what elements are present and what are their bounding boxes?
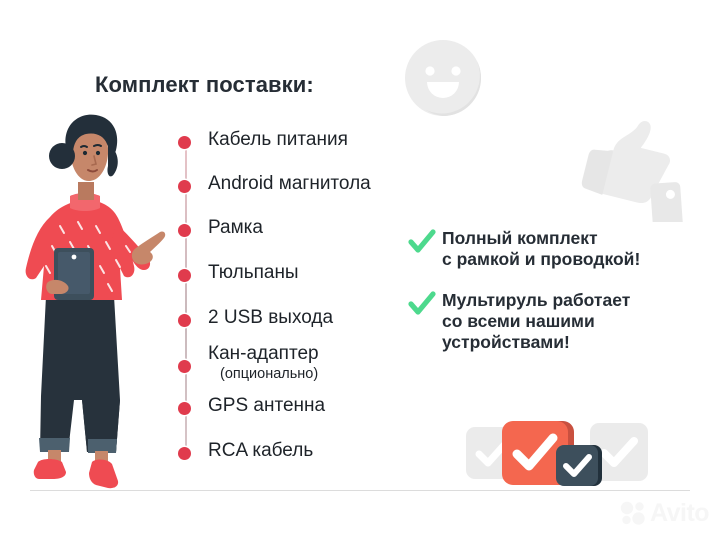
check-icon <box>408 291 436 317</box>
avito-watermark: Avito <box>620 500 709 526</box>
bullet-dot-icon <box>178 180 191 193</box>
list-item-label: Тюльпаны <box>208 262 299 283</box>
ground-line <box>30 490 690 491</box>
list-item-label: Android магнитола <box>208 173 371 194</box>
thumbs-up-icon <box>580 112 690 222</box>
check-icon <box>408 229 436 255</box>
promo-card: Комплект поставки: Кабель питания Androi… <box>0 0 720 540</box>
bullet-dot-icon <box>178 360 191 373</box>
benefit-text: Мультируль работает со всеми нашими устр… <box>442 290 630 354</box>
checkbox-card-dark <box>556 445 598 486</box>
list-item-label: 2 USB выхода <box>208 307 333 328</box>
page-title: Комплект поставки: <box>95 72 314 98</box>
list-item-label: Кабель питания <box>208 129 348 150</box>
list-item-label: Рамка <box>208 217 263 238</box>
list-item: Android магнитола <box>178 174 478 194</box>
list-item-label: Кан-адаптер <box>208 343 319 364</box>
list-item: GPS антенна <box>178 396 478 416</box>
bullet-dot-icon <box>178 224 191 237</box>
list-item: Кабель питания <box>178 130 478 150</box>
smiley-face-icon <box>403 38 483 118</box>
list-item-label: RCA кабель <box>208 440 313 461</box>
bullet-dot-icon <box>178 136 191 149</box>
list-item-label: GPS антенна <box>208 395 325 416</box>
benefits-block: Полный комплект с рамкой и проводкой! Му… <box>408 228 708 354</box>
check-icon <box>556 445 598 486</box>
avito-logo-icon <box>620 500 646 526</box>
benefit-item: Полный комплект с рамкой и проводкой! <box>408 228 708 271</box>
benefit-text: Полный комплект с рамкой и проводкой! <box>442 228 640 271</box>
woman-pointing-with-tablet-illustration <box>8 100 173 495</box>
bullet-dot-icon <box>178 314 191 327</box>
checkbox-cards-decoration <box>466 415 646 485</box>
list-item-sublabel: (опционально) <box>220 367 319 383</box>
bullet-dot-icon <box>178 447 191 460</box>
benefit-item: Мультируль работает со всеми нашими устр… <box>408 290 708 354</box>
avito-watermark-text: Avito <box>650 501 709 526</box>
list-item: RCA кабель <box>178 441 478 461</box>
bullet-dot-icon <box>178 269 191 282</box>
bullet-dot-icon <box>178 402 191 415</box>
